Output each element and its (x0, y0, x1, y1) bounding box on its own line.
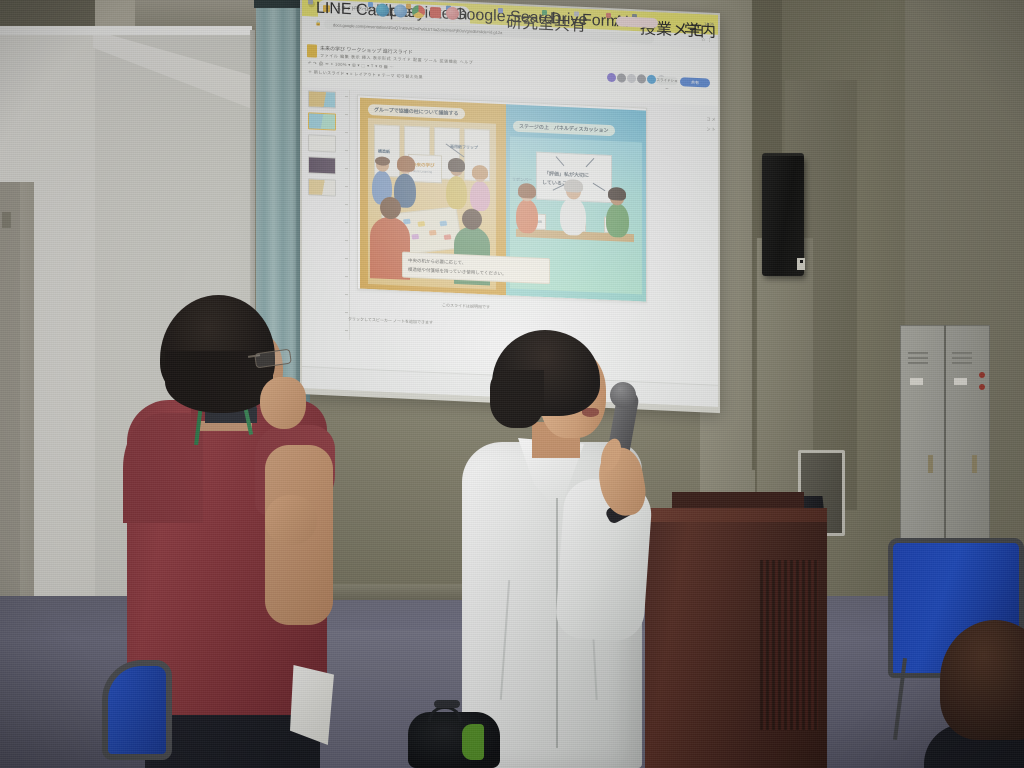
illustration-person-hair (472, 165, 488, 180)
bookmark-icon[interactable] (574, 11, 579, 16)
ribbon-label: リボンバー (512, 177, 532, 184)
shoulder (123, 413, 203, 523)
light-switch-plate[interactable] (2, 212, 11, 228)
illustration-person-hair (375, 156, 390, 166)
chair-backrest (102, 660, 172, 760)
start-button[interactable]: スタート (354, 5, 370, 12)
slide-thumbnail[interactable] (308, 134, 336, 152)
illustration-panelist (516, 199, 538, 234)
lectern-grille (760, 560, 818, 730)
hand (265, 495, 317, 545)
blue-chair-left[interactable] (98, 660, 182, 768)
locker-marker-icon (979, 372, 985, 378)
poster-paper-label: 模造紙 (378, 148, 390, 155)
illustration-person-hair (448, 158, 465, 173)
illustration-person-head (462, 208, 482, 230)
coat-seam (556, 498, 558, 748)
speaker-indicator-icon (797, 258, 805, 270)
backpack-handle (434, 700, 460, 708)
edge-icon[interactable] (376, 3, 389, 17)
locker-name-tag (910, 378, 923, 385)
illustration-person-head (380, 197, 401, 220)
slide-thumbnail[interactable] (308, 178, 336, 196)
handout-paper (290, 665, 334, 745)
illustration-person-hair (397, 155, 415, 172)
avatar[interactable] (637, 74, 646, 83)
chrome-icon[interactable] (412, 5, 425, 19)
taskbar-tray[interactable]: 14:35 (704, 21, 714, 26)
slide-thumbnail[interactable] (308, 112, 336, 130)
comments-rail[interactable]: コ メ ン ト (706, 114, 716, 134)
bookmark-item[interactable]: 学内 ポータル (684, 16, 718, 45)
vertical-ruler (342, 90, 350, 340)
locker-marker-icon (979, 384, 985, 390)
illustration-person (470, 181, 490, 212)
slide-thumbnail[interactable] (308, 90, 336, 108)
locker-handle[interactable] (928, 455, 933, 473)
curtain-rail (254, 0, 306, 8)
lectern-top (645, 508, 827, 522)
bookmark-icon[interactable] (498, 8, 503, 13)
mail-icon[interactable] (430, 7, 441, 18)
explorer-icon[interactable] (394, 4, 407, 18)
share-button[interactable]: 共有 (680, 77, 710, 87)
hand (260, 377, 306, 429)
recorder-icon[interactable] (446, 7, 459, 21)
illustration-panelist-hair (518, 183, 536, 199)
mouth (582, 408, 599, 417)
backpack-green-trim (462, 724, 484, 760)
google-slides-logo-icon (307, 44, 317, 57)
lock-icon: 🔒 (315, 21, 321, 27)
slide-footer-note: このスライドは説明用です (442, 302, 490, 310)
bookmark-icon[interactable] (606, 13, 611, 18)
drawing-paper-flip-label: 画用紙フリップ (450, 144, 478, 151)
slide-thumbnail[interactable] (308, 156, 336, 174)
taskbar-search[interactable] (616, 16, 658, 28)
flip-card-title: 未来の学び (412, 162, 435, 169)
slideshow-button[interactable]: スライドショー (656, 76, 678, 85)
seated-attendee-foreground (940, 620, 1024, 768)
speaker-notes-placeholder[interactable]: クリックしてスピーカー ノートを追加できます (348, 316, 433, 326)
bookmark-icon[interactable] (308, 0, 313, 4)
illustration-panelist (606, 203, 629, 238)
avatar[interactable] (627, 74, 636, 83)
locker-name-tag (954, 378, 967, 385)
avatar[interactable] (617, 73, 626, 82)
illustration-panelist-hair (564, 179, 583, 193)
illustration-person (446, 176, 467, 210)
bookmark-icon[interactable] (542, 10, 547, 15)
lecture-hall-photo: スライド 1 - Google スライド × + 🔒 docs.google.c… (0, 0, 1024, 768)
hair-side (490, 370, 544, 428)
locker-handle[interactable] (972, 455, 977, 473)
illustration-panelist (560, 197, 586, 236)
avatar[interactable] (647, 75, 656, 84)
hair (940, 620, 1024, 740)
avatar[interactable] (607, 73, 616, 82)
left-pillar-cap (0, 26, 252, 35)
slide-canvas[interactable]: 未来の学び Future Learning 模造紙 画用紙フリップ (357, 94, 647, 302)
presenter-with-microphone (452, 330, 672, 768)
illustration-panelist-hair (608, 187, 626, 201)
